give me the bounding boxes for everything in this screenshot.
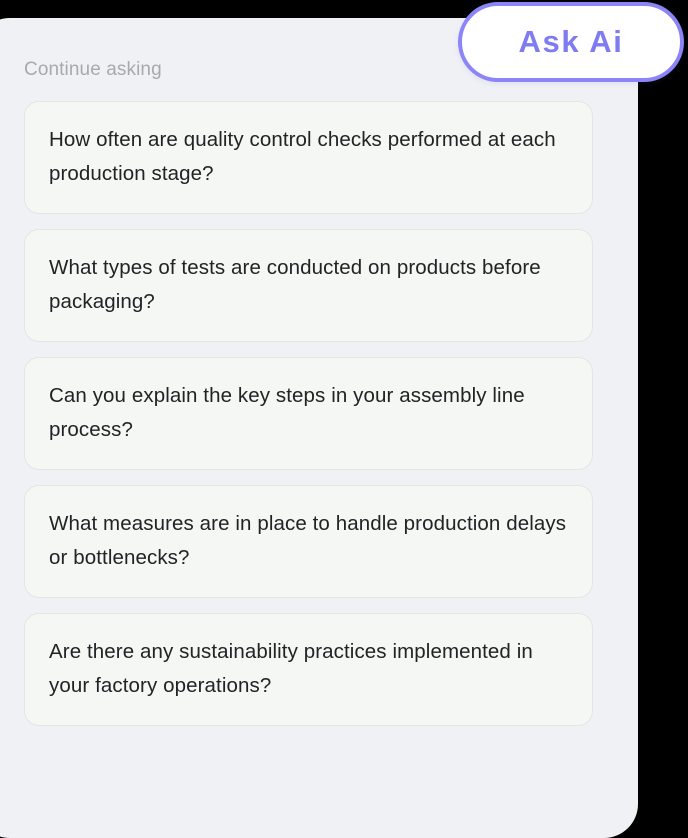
- screen-root: Continue asking How often are quality co…: [0, 0, 688, 814]
- panel-content: Continue asking How often are quality co…: [0, 18, 638, 838]
- suggestion-text: How often are quality control checks per…: [49, 123, 568, 191]
- ask-ai-label: Ask Ai: [519, 24, 624, 60]
- suggestion-card[interactable]: Can you explain the key steps in your as…: [24, 357, 593, 470]
- suggestion-card[interactable]: How often are quality control checks per…: [24, 101, 593, 214]
- suggestion-card[interactable]: Are there any sustainability practices i…: [24, 613, 593, 726]
- suggestion-text: What types of tests are conducted on pro…: [49, 251, 568, 319]
- ask-ai-button[interactable]: Ask Ai: [458, 2, 684, 82]
- suggestion-list: How often are quality control checks per…: [24, 101, 593, 726]
- suggestion-text: What measures are in place to handle pro…: [49, 507, 568, 575]
- continue-asking-panel: Continue asking How often are quality co…: [0, 18, 638, 838]
- suggestion-text: Are there any sustainability practices i…: [49, 635, 568, 703]
- suggestion-card[interactable]: What measures are in place to handle pro…: [24, 485, 593, 598]
- suggestion-card[interactable]: What types of tests are conducted on pro…: [24, 229, 593, 342]
- suggestion-text: Can you explain the key steps in your as…: [49, 379, 568, 447]
